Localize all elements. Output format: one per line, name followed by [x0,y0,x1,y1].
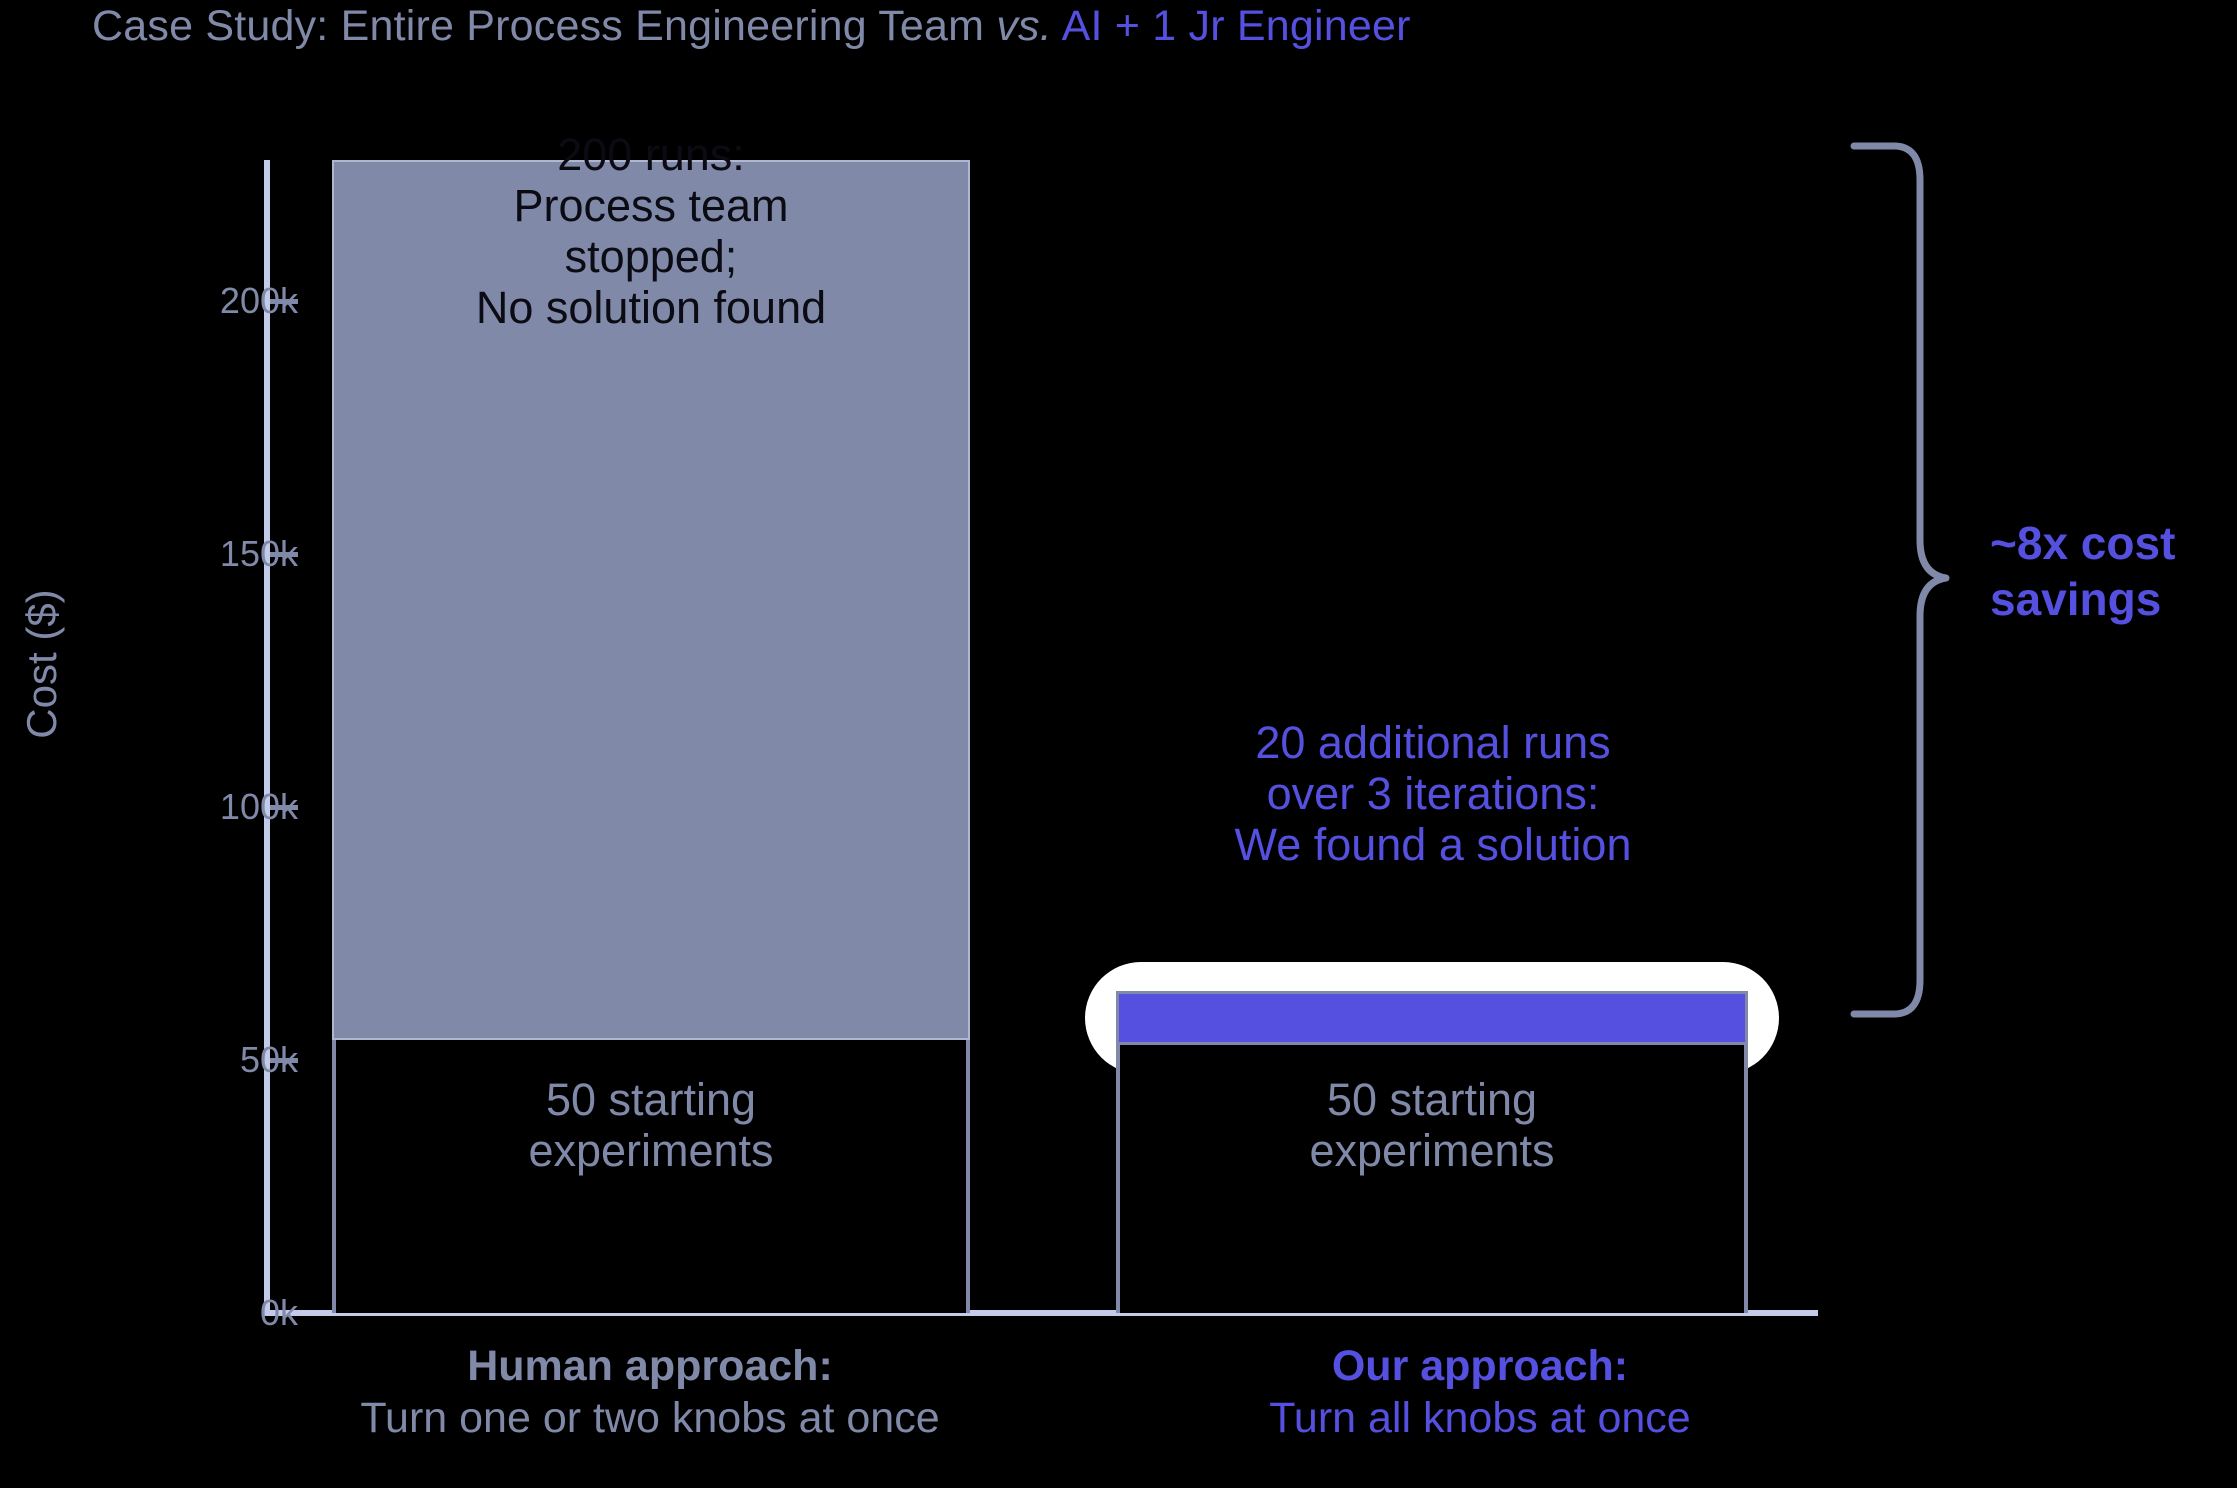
chart-title-prefix: Case Study: Entire Process Engineering T… [92,2,996,50]
bar-human-base-label-line-1: 50 starting [332,1075,970,1126]
bar-human-annotation-line-4: No solution found [332,283,970,334]
y-tick-label-0k: 0k [98,1292,298,1334]
bar-human-annotation: 200 runs: Process team stopped; No solut… [332,130,970,333]
category-label-our-approach: Our approach: Turn all knobs at once [1080,1340,1880,1445]
bar-our-approach[interactable] [1116,991,1748,1045]
y-tick-label-200k: 200k [98,280,298,322]
savings-label-line-1: ~8x cost [1990,515,2237,571]
bar-ai-annotation-line-3: We found a solution [1075,820,1791,871]
category-label-our-head: Our approach: [1080,1340,1880,1392]
bar-human-base-label-line-2: experiments [332,1126,970,1177]
chart-canvas: Case Study: Entire Process Engineering T… [0,0,2237,1488]
bar-ai-base-label-line-2: experiments [1116,1126,1748,1177]
bar-ai-annotation: 20 additional runs over 3 iterations: We… [1075,718,1791,871]
bar-ai-base-label: 50 starting experiments [1116,1075,1748,1177]
y-tick-label-100k: 100k [98,786,298,828]
bar-human-annotation-line-1: 200 runs: [332,130,970,181]
bar-human-annotation-line-3: stopped; [332,232,970,283]
y-axis-line [264,160,270,1316]
bar-human-annotation-line-2: Process team [332,181,970,232]
savings-brace-icon [1842,140,1972,1020]
y-tick-mark-150k [270,552,298,557]
category-label-our-sub: Turn all knobs at once [1080,1392,1880,1444]
bar-ai-base-label-line-1: 50 starting [1116,1075,1748,1126]
y-axis-title: Cost ($) [18,534,66,794]
category-label-human-sub: Turn one or two knobs at once [140,1392,1160,1444]
y-tick-label-50k: 50k [98,1039,298,1081]
y-tick-label-150k: 150k [98,533,298,575]
y-tick-mark-50k [270,1058,298,1063]
chart-title-accent: AI + 1 Jr Engineer [1052,2,1411,50]
savings-label: ~8x cost savings [1990,515,2237,627]
bar-human-base-label: 50 starting experiments [332,1075,970,1177]
chart-title: Case Study: Entire Process Engineering T… [92,2,1411,51]
category-label-human-head: Human approach: [140,1340,1160,1392]
bar-ai-annotation-line-2: over 3 iterations: [1075,769,1791,820]
category-label-human: Human approach: Turn one or two knobs at… [140,1340,1160,1445]
bar-ai-annotation-line-1: 20 additional runs [1075,718,1791,769]
y-tick-mark-100k [270,805,298,810]
savings-label-line-2: savings [1990,571,2237,627]
chart-title-vs: vs. [996,2,1052,50]
y-tick-mark-200k [270,299,298,304]
